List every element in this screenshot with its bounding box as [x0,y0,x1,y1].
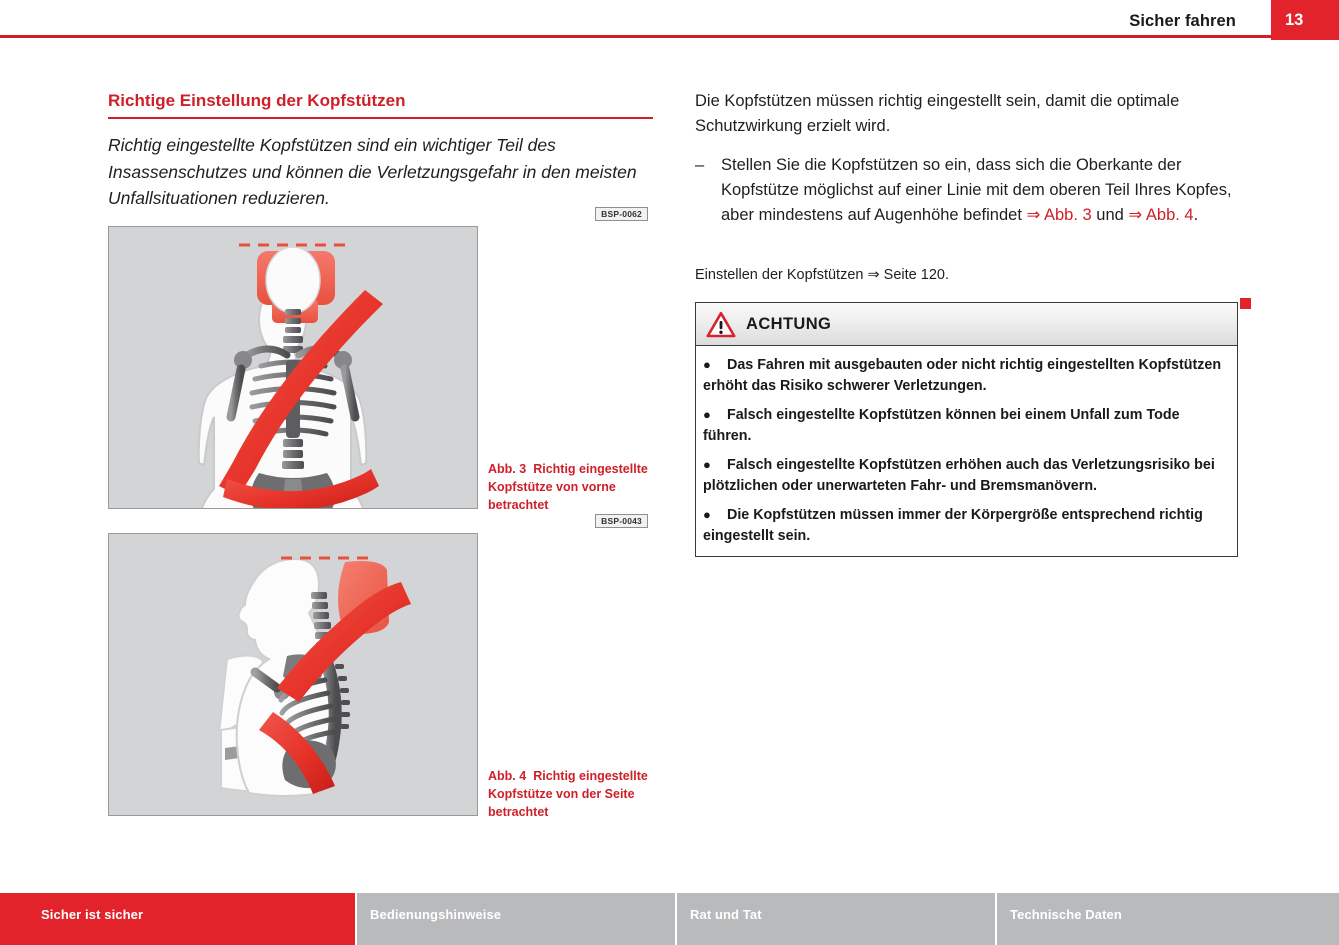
footer-tab-technische-daten[interactable]: Technische Daten [995,893,1339,945]
figure-4-image [108,533,478,816]
figure-3-image [108,226,478,509]
warning-box: ACHTUNG ●Das Fahren mit ausgebauten oder… [695,302,1238,557]
warning-title: ACHTUNG [746,315,831,334]
warning-list-item: ●Falsch eingestellte Kopfstützen können … [703,405,1228,446]
section-heading: Richtige Einstellung der Kopfstützen [108,91,653,119]
footer-tab-label: Bedienungshinweise [370,907,501,922]
figure-4-caption: Abb. 4Richtig eingestellte Kopfstütze vo… [488,768,653,821]
footer-tab-label: Sicher ist sicher [41,907,143,922]
footer-tab-sicher-ist-sicher[interactable]: Sicher ist sicher [0,893,355,945]
cross-reference-line: Einstellen der Kopfstützen ⇒ Seite 120. [695,265,1240,287]
footer-tab-label: Technische Daten [1010,907,1122,922]
warning-item-text: Falsch eingestellte Kopfstützen erhöhen … [703,457,1215,494]
warning-item-text: Falsch eingestellte Kopfstützen können b… [703,407,1180,444]
dash-bullet-marker: – [695,153,704,178]
warning-triangle-icon [706,311,736,338]
warning-bullet-glyph: ● [703,356,727,375]
figure-4-code-label: BSP-0043 [595,514,648,529]
cross-reference-abb-3[interactable]: ⇒ Abb. 3 [1026,206,1091,224]
figure-3-caption: Abb. 3Richtig eingestellte Kopfstütze vo… [488,461,653,514]
page-number-badge: 13 [1271,0,1339,40]
warning-box-body: ●Das Fahren mit ausgebauten oder nicht r… [696,346,1237,556]
figure-3-label: Abb. 3 [488,462,526,476]
instruction-text-part-2: und [1092,206,1129,224]
page-header: Sicher fahren 13 [0,0,1339,40]
side-view-skeleton-headrest-seatbelt-illustration [109,534,477,815]
intro-paragraph: Die Kopfstützen müssen richtig eingestel… [695,89,1240,139]
warning-item-text: Das Fahren mit ausgebauten oder nicht ri… [703,357,1221,394]
figure-3-code-label: BSP-0062 [595,207,648,222]
page-footer-tabs: Sicher ist sicher Bedienungshinweise Rat… [0,893,1339,945]
instruction-text-part-3: . [1194,206,1199,224]
warning-list-item: ●Das Fahren mit ausgebauten oder nicht r… [703,355,1228,396]
warning-bullet-glyph: ● [703,506,727,525]
page-header-title: Sicher fahren [1129,12,1236,31]
cross-reference-abb-4[interactable]: ⇒ Abb. 4 [1128,206,1193,224]
footer-tab-label: Rat und Tat [690,907,762,922]
warning-box-header: ACHTUNG [696,303,1237,346]
header-divider-rule [0,35,1339,38]
warning-list-item: ●Falsch eingestellte Kopfstützen erhöhen… [703,455,1228,496]
section-end-marker [1240,298,1251,309]
figure-4-label: Abb. 4 [488,769,526,783]
warning-item-text: Die Kopfstützen müssen immer der Körperg… [703,507,1203,544]
warning-bullet-glyph: ● [703,456,727,475]
warning-bullet-glyph: ● [703,406,727,425]
page-number-label: 13 [1285,11,1303,30]
warning-list-item: ●Die Kopfstützen müssen immer der Körper… [703,505,1228,546]
instruction-text: Stellen Sie die Kopfstützen so ein, dass… [721,153,1240,228]
instruction-list-item: – Stellen Sie die Kopfstützen so ein, da… [695,153,1240,228]
footer-tab-bedienungshinweise[interactable]: Bedienungshinweise [355,893,675,945]
page-content: Richtige Einstellung der Kopfstützen Ric… [0,40,1339,880]
section-intro-paragraph: Richtig eingestellte Kopfstützen sind ei… [108,132,653,212]
front-view-skeleton-headrest-seatbelt-illustration [109,227,477,508]
footer-tab-rat-und-tat[interactable]: Rat und Tat [675,893,995,945]
